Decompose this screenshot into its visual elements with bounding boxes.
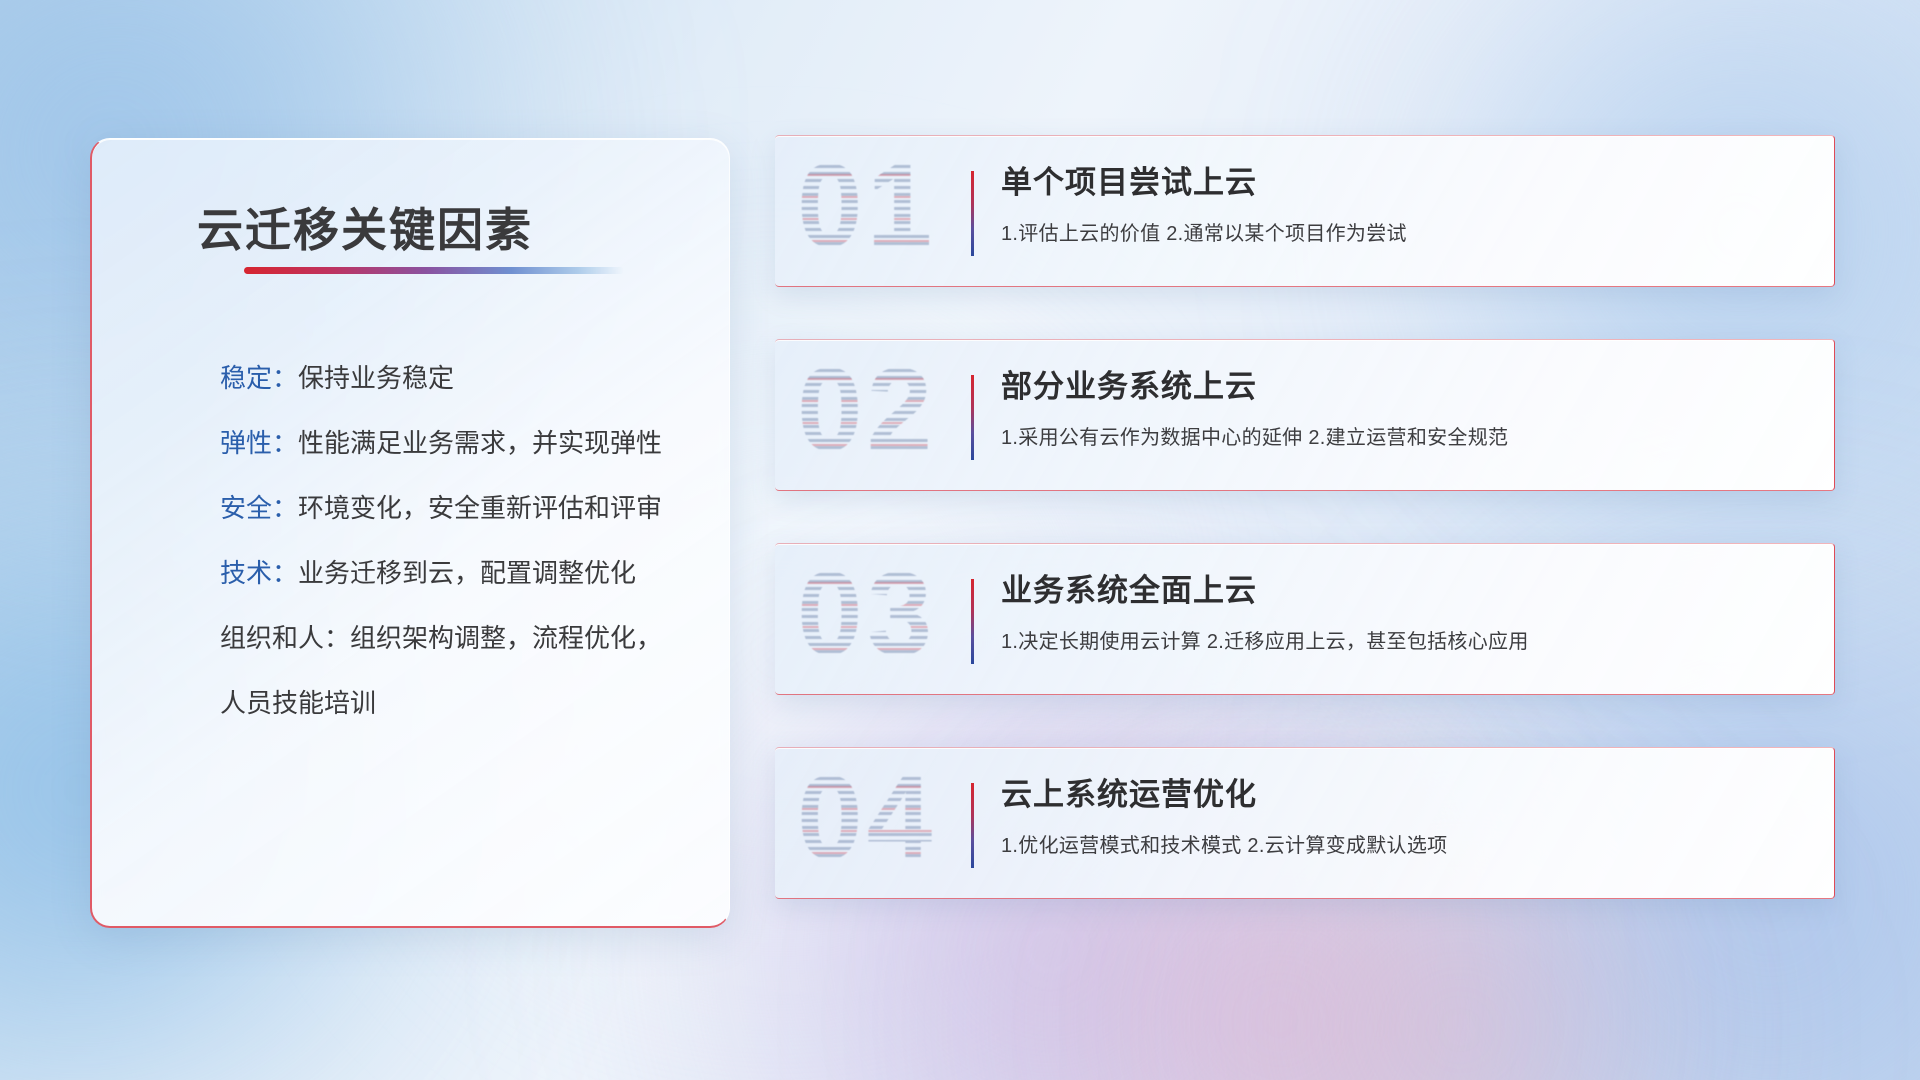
stage-number-tint: 01 xyxy=(797,135,936,283)
stage-number-tint: 04 xyxy=(797,747,936,895)
slide-stage: 云迁移关键因素 稳定：保持业务稳定弹性：性能满足业务需求，并实现弹性安全：环境变… xyxy=(0,0,1920,1080)
stage-accent-bar xyxy=(971,579,974,664)
stage-description: 1.优化运营模式和技术模式 2.云计算变成默认选项 xyxy=(1001,829,1810,858)
stage-card-body: 云上系统运营优化1.优化运营模式和技术模式 2.云计算变成默认选项 xyxy=(1001,776,1810,858)
stage-accent-bar xyxy=(971,171,974,256)
stage-description: 1.采用公有云作为数据中心的延伸 2.建立运营和安全规范 xyxy=(1001,421,1810,450)
stage-description: 1.评估上云的价值 2.通常以某个项目作为尝试 xyxy=(1001,217,1810,246)
stage-card[interactable]: 0303业务系统全面上云1.决定长期使用云计算 2.迁移应用上云，甚至包括核心应… xyxy=(775,543,1835,695)
factor-label: 组织和人： xyxy=(220,621,350,656)
stage-accent-bar xyxy=(971,783,974,868)
factor-label: 技术： xyxy=(220,556,298,591)
stage-title: 部分业务系统上云 xyxy=(1001,368,1810,407)
factor-text: 保持业务稳定 xyxy=(298,361,454,396)
stage-title: 业务系统全面上云 xyxy=(1001,572,1810,611)
factor-row: 弹性：性能满足业务需求，并实现弹性 xyxy=(92,426,729,461)
stage-card-body: 业务系统全面上云1.决定长期使用云计算 2.迁移应用上云，甚至包括核心应用 xyxy=(1001,572,1810,654)
stage-card[interactable]: 0202部分业务系统上云1.采用公有云作为数据中心的延伸 2.建立运营和安全规范 xyxy=(775,339,1835,491)
stage-title: 云上系统运营优化 xyxy=(1001,776,1810,815)
stage-card[interactable]: 0404云上系统运营优化1.优化运营模式和技术模式 2.云计算变成默认选项 xyxy=(775,747,1835,899)
stage-number-tint: 03 xyxy=(797,543,936,691)
title-underline-accent xyxy=(244,267,624,274)
factor-text: 环境变化，安全重新评估和评审 xyxy=(298,491,662,526)
stage-card-body: 单个项目尝试上云1.评估上云的价值 2.通常以某个项目作为尝试 xyxy=(1001,164,1810,246)
panel-title: 云迁移关键因素 xyxy=(197,194,533,260)
factor-label: 弹性： xyxy=(220,426,298,461)
stage-card-list: 0101单个项目尝试上云1.评估上云的价值 2.通常以某个项目作为尝试0202部… xyxy=(775,135,1835,899)
stage-title: 单个项目尝试上云 xyxy=(1001,164,1810,203)
stage-number-tint: 02 xyxy=(797,339,936,487)
factor-row: 技术：业务迁移到云，配置调整优化 xyxy=(92,556,729,591)
factor-list: 稳定：保持业务稳定弹性：性能满足业务需求，并实现弹性安全：环境变化，安全重新评估… xyxy=(92,361,729,722)
factor-row: 组织和人：组织架构调整，流程优化， xyxy=(92,621,729,656)
factor-text: 组织架构调整，流程优化， xyxy=(350,621,662,656)
key-factors-panel: 云迁移关键因素 稳定：保持业务稳定弹性：性能满足业务需求，并实现弹性安全：环境变… xyxy=(90,138,730,928)
factor-label: 安全： xyxy=(220,491,298,526)
stage-card-body: 部分业务系统上云1.采用公有云作为数据中心的延伸 2.建立运营和安全规范 xyxy=(1001,368,1810,450)
stage-description: 1.决定长期使用云计算 2.迁移应用上云，甚至包括核心应用 xyxy=(1001,625,1810,654)
factor-text: 人员技能培训 xyxy=(220,686,376,721)
factor-row: 安全：环境变化，安全重新评估和评审 xyxy=(92,491,729,526)
stage-card[interactable]: 0101单个项目尝试上云1.评估上云的价值 2.通常以某个项目作为尝试 xyxy=(775,135,1835,287)
factor-text: 性能满足业务需求，并实现弹性 xyxy=(298,426,662,461)
factor-text: 业务迁移到云，配置调整优化 xyxy=(298,556,636,591)
factor-label: 稳定： xyxy=(220,361,298,396)
stage-accent-bar xyxy=(971,375,974,460)
factor-row: 人员技能培训 xyxy=(92,686,729,721)
factor-row: 稳定：保持业务稳定 xyxy=(92,361,729,396)
